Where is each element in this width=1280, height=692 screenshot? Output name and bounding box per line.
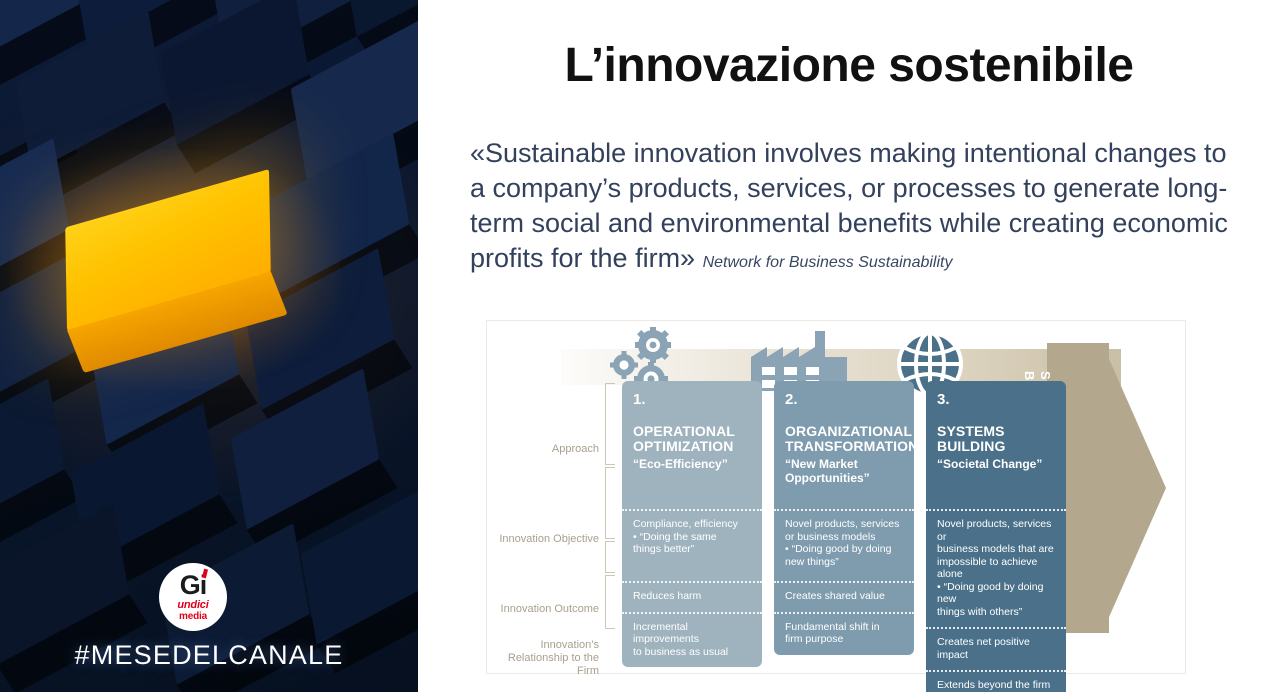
cell-relationship: Incremental improvements to business as …: [622, 612, 762, 668]
content-panel: L’innovazione sostenibile «Sustainable i…: [418, 0, 1280, 692]
left-decorative-panel: Gi undici media #MESEDELCANALE: [0, 0, 418, 692]
row-label-outcome: Innovation Outcome: [495, 603, 599, 616]
diagram-column-2: 2. ORGANIZATIONAL TRANSFORMATION “New Ma…: [774, 381, 914, 655]
column-number: 1.: [633, 391, 751, 408]
quote-attribution: Network for Business Sustainability: [703, 254, 953, 271]
column-subtitle: “Eco-Efficiency”: [633, 457, 751, 471]
quote-block: «Sustainable innovation involves making …: [470, 136, 1240, 280]
column-title: ORGANIZATIONAL TRANSFORMATION: [785, 424, 903, 454]
bracket-relationship: [605, 575, 615, 629]
column-number: 3.: [937, 391, 1055, 408]
diagram-column-3: 3. SYSTEMS BUILDING “Societal Change” No…: [926, 381, 1066, 692]
column-subtitle: “New Market Opportunities”: [785, 457, 903, 485]
cell-outcome: Creates shared value: [774, 581, 914, 612]
bracket-outcome: [605, 541, 615, 573]
diagram-column-1: 1. OPERATIONAL OPTIMIZATION “Eco-Efficie…: [622, 381, 762, 667]
slide-root: Gi undici media #MESEDELCANALE L’innovaz…: [0, 0, 1280, 692]
quote-text: «Sustainable innovation involves making …: [470, 138, 1228, 273]
logo-circle: Gi undici media: [159, 563, 227, 631]
column-header: 3. SYSTEMS BUILDING “Societal Change”: [926, 381, 1066, 509]
campaign-hashtag: #MESEDELCANALE: [0, 640, 418, 671]
bracket-approach: [605, 383, 615, 465]
row-label-objective: Innovation Objective: [495, 533, 599, 546]
cell-objective: Novel products, services or business mod…: [926, 509, 1066, 627]
logo-line-2: media: [179, 612, 207, 622]
arrow-head: [1102, 343, 1166, 633]
row-label-relationship: Innovation’s Relationship to the Firm: [495, 639, 599, 678]
row-label-approach: Approach: [495, 443, 599, 456]
iso-block: [0, 378, 64, 540]
cell-relationship: Fundamental shift in firm purpose: [774, 612, 914, 655]
logo-red-tick: [202, 569, 208, 579]
slide-title: L’innovazione sostenibile: [418, 38, 1280, 93]
column-header: 1. OPERATIONAL OPTIMIZATION “Eco-Efficie…: [622, 381, 762, 509]
column-title: SYSTEMS BUILDING: [937, 424, 1055, 454]
cell-relationship: Extends beyond the firm to drive institu…: [926, 670, 1066, 692]
sustainable-business-diagram: SUSTAINABLE BUSINESS: [486, 320, 1186, 674]
column-number: 2.: [785, 391, 903, 408]
column-header: 2. ORGANIZATIONAL TRANSFORMATION “New Ma…: [774, 381, 914, 509]
bracket-objective: [605, 467, 615, 539]
cell-objective: Novel products, services or business mod…: [774, 509, 914, 581]
column-title: OPERATIONAL OPTIMIZATION: [633, 424, 751, 454]
brand-logo: Gi undici media: [159, 563, 227, 631]
column-subtitle: “Societal Change”: [937, 457, 1055, 471]
logo-line-1: undici: [177, 600, 208, 611]
row-labels: Approach Innovation Objective Innovation…: [487, 381, 599, 666]
logo-mark: Gi: [180, 572, 207, 599]
cell-outcome: Creates net positive impact: [926, 627, 1066, 670]
cell-objective: Compliance, efficiency • “Doing the same…: [622, 509, 762, 581]
cell-outcome: Reduces harm: [622, 581, 762, 612]
